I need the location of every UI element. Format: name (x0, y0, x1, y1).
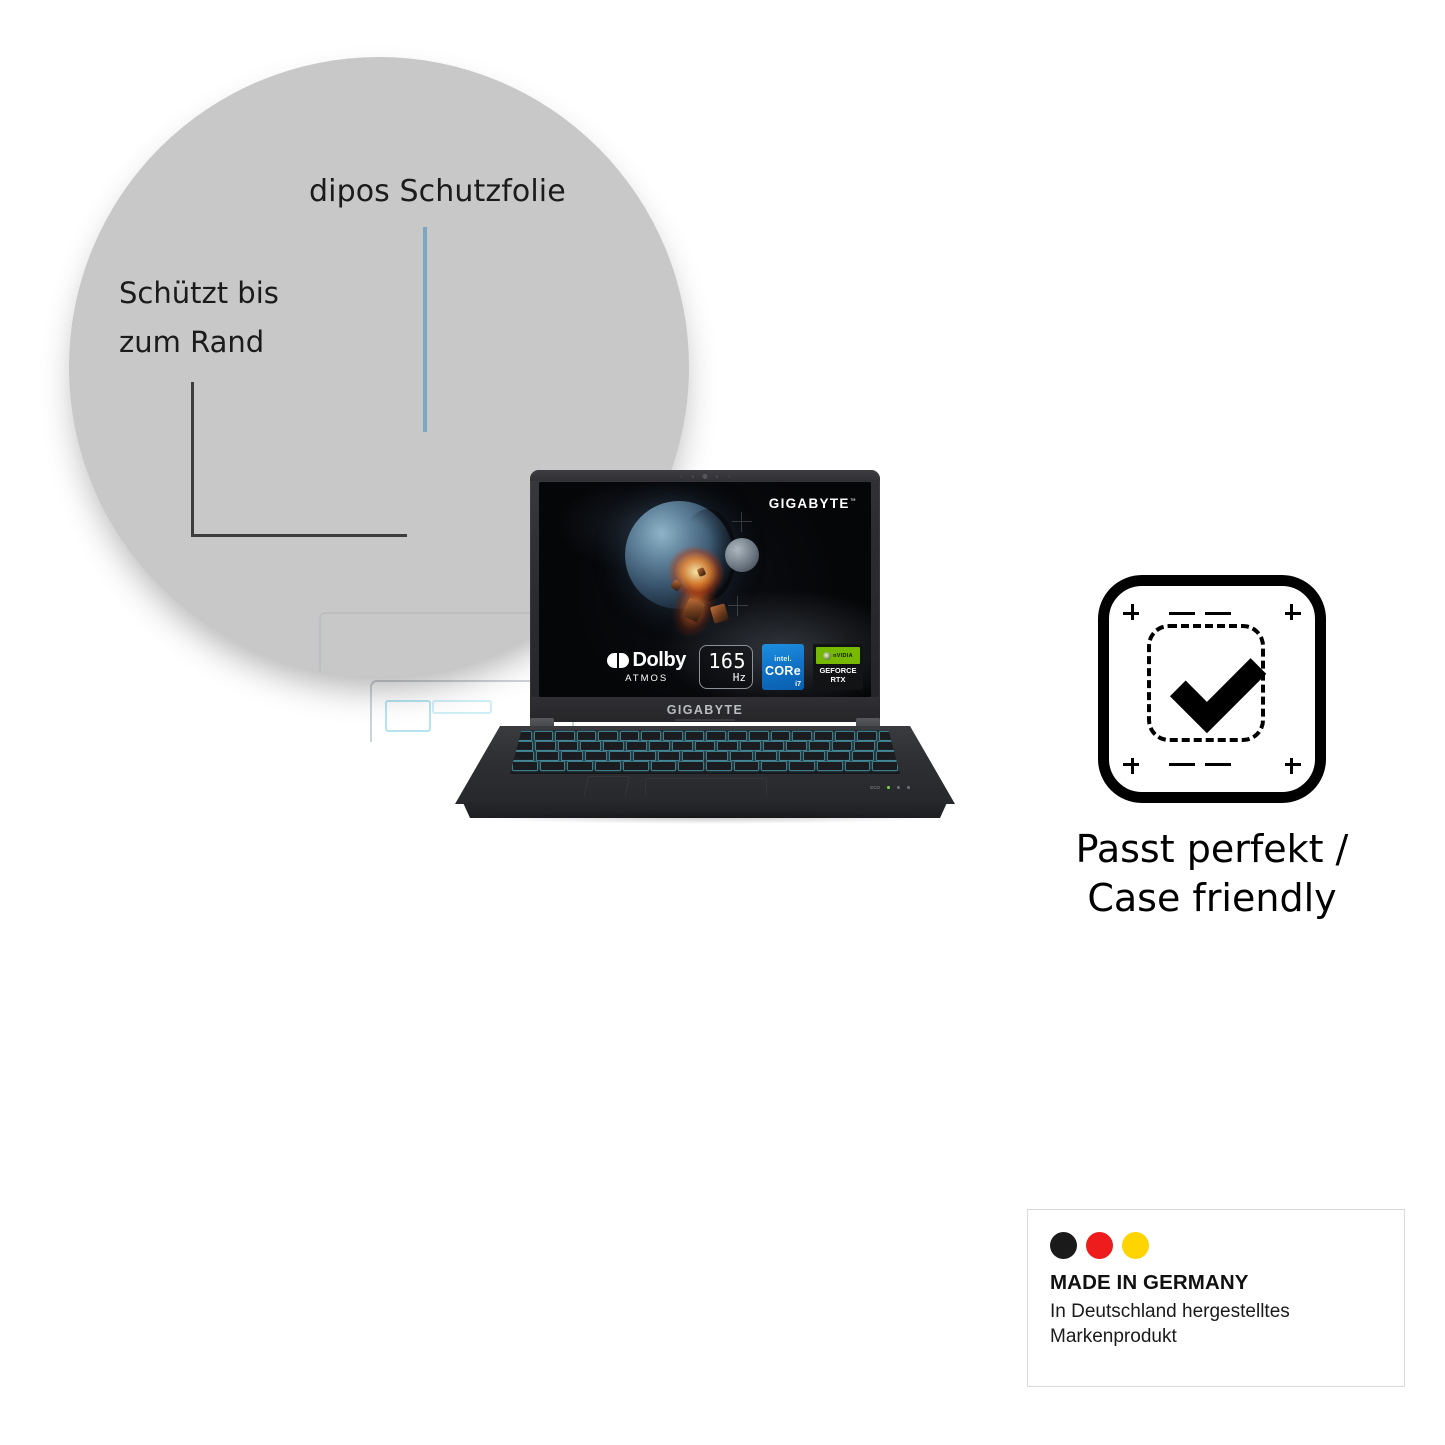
dolby-atmos-label: ATMOS (625, 673, 668, 684)
laptop-lid: GIGABYTE™ Dolby ATMOS 165 Hz (530, 470, 880, 722)
crosshair-icon (732, 512, 752, 532)
corner-mark-bl-v (1131, 758, 1134, 774)
checkmark-icon (1161, 638, 1273, 750)
gigabyte-bezel-logo: GIGABYTE (667, 703, 743, 717)
dolby-atmos-badge: Dolby ATMOS (607, 650, 686, 684)
flag-dot-black (1050, 1232, 1077, 1259)
gigabyte-screen-logo-text: GIGABYTE (769, 496, 850, 511)
laptop-shadow (475, 810, 935, 824)
flag-dot-gold (1122, 1232, 1149, 1259)
blue-leader-line (423, 227, 427, 432)
status-led-group: ECO (870, 785, 910, 790)
nvidia-geforce-rtx-badge: nVIDIA GEFORCE RTX (813, 644, 863, 690)
refresh-rate-unit: Hz (733, 672, 746, 683)
frame-dash-top (1205, 612, 1231, 615)
frame-dash-bottom (1169, 763, 1195, 766)
battery-led-icon (897, 786, 900, 789)
refresh-rate-value: 165 (708, 652, 746, 671)
drive-led-icon (907, 786, 910, 789)
made-in-germany-subtitle-line-2: Markenprodukt (1050, 1324, 1404, 1349)
magnifier-subtitle-line-1: Schützt bis (119, 269, 379, 318)
case-friendly-label-line-1: Passt perfekt / (1042, 825, 1382, 874)
fit-check-icon (1098, 575, 1326, 803)
frame-dash-top (1169, 612, 1195, 615)
laptop-base: ECO (455, 726, 955, 820)
gigabyte-screen-logo: GIGABYTE™ (769, 496, 857, 511)
intel-core-label: CORe (765, 664, 801, 678)
case-friendly-label: Passt perfekt / Case friendly (1042, 825, 1382, 922)
dolby-wordmark: Dolby (632, 650, 686, 670)
frame-dash-bottom (1205, 763, 1231, 766)
case-friendly-feature: Passt perfekt / Case friendly (1042, 575, 1382, 922)
corner-mark-tl-h (1123, 612, 1139, 615)
corner-mark-br-h (1285, 763, 1301, 766)
flag-dot-red (1086, 1232, 1113, 1259)
ghost-key-left (385, 700, 431, 732)
crosshair-icon (728, 596, 748, 616)
dolby-logo-row: Dolby (607, 650, 686, 670)
intel-wordmark: intel. (774, 656, 792, 663)
dolby-double-d-icon (607, 653, 629, 668)
magnifier-title: dipos Schutzfolie (309, 174, 649, 209)
product-infographic-canvas: dipos Schutzfolie Schützt bis zum Rand (0, 0, 1445, 1445)
intel-tier-label: i7 (795, 681, 801, 688)
nvidia-wordmark: nVIDIA (833, 653, 853, 659)
corner-mark-bl-h (1123, 763, 1139, 766)
bezel-notch (675, 719, 735, 721)
edge-bracket-vertical (191, 382, 194, 537)
webcam-icon (703, 474, 708, 479)
german-flag-dots (1050, 1232, 1404, 1259)
refresh-rate-badge: 165 Hz (699, 645, 753, 689)
power-led-icon (887, 786, 890, 789)
keyboard-row (510, 741, 900, 749)
keyboard-row (510, 751, 900, 759)
made-in-germany-badge: MADE IN GERMANY In Deutschland hergestel… (1027, 1209, 1405, 1387)
edge-bracket-horizontal (191, 534, 407, 537)
made-in-germany-subtitle: In Deutschland hergestelltes Markenprodu… (1050, 1299, 1404, 1350)
magnifier-subtitle: Schützt bis zum Rand (119, 269, 379, 366)
keyboard-row (510, 761, 900, 769)
laptop-screen: GIGABYTE™ Dolby ATMOS 165 Hz (539, 482, 871, 697)
spec-badge-row: Dolby ATMOS 165 Hz intel. CORe i7 (549, 644, 863, 690)
trademark-mark: ™ (850, 499, 857, 505)
made-in-germany-subtitle-line-1: In Deutschland hergestelltes (1050, 1299, 1404, 1324)
nvidia-eye-icon (823, 652, 831, 660)
eco-led-label: ECO (870, 785, 880, 790)
laptop-top-bezel (530, 470, 880, 481)
laptop-bottom-bezel: GIGABYTE (530, 697, 880, 722)
intel-core-badge: intel. CORe i7 (762, 644, 804, 690)
corner-mark-br-v (1290, 758, 1293, 774)
geforce-rtx-label: GEFORCE RTX (819, 667, 856, 684)
made-in-germany-title: MADE IN GERMANY (1050, 1271, 1404, 1295)
backlit-keyboard (510, 730, 900, 774)
laptop-product-image: GIGABYTE™ Dolby ATMOS 165 Hz (455, 470, 955, 820)
corner-mark-tr-h (1285, 612, 1301, 615)
magnifier-subtitle-line-2: zum Rand (119, 318, 379, 367)
laptop-deck: ECO (455, 726, 955, 804)
keyboard-row (510, 731, 900, 739)
nvidia-logo-strip: nVIDIA (816, 647, 860, 664)
case-friendly-label-line-2: Case friendly (1042, 874, 1382, 923)
rtx-label: RTX (831, 675, 846, 684)
